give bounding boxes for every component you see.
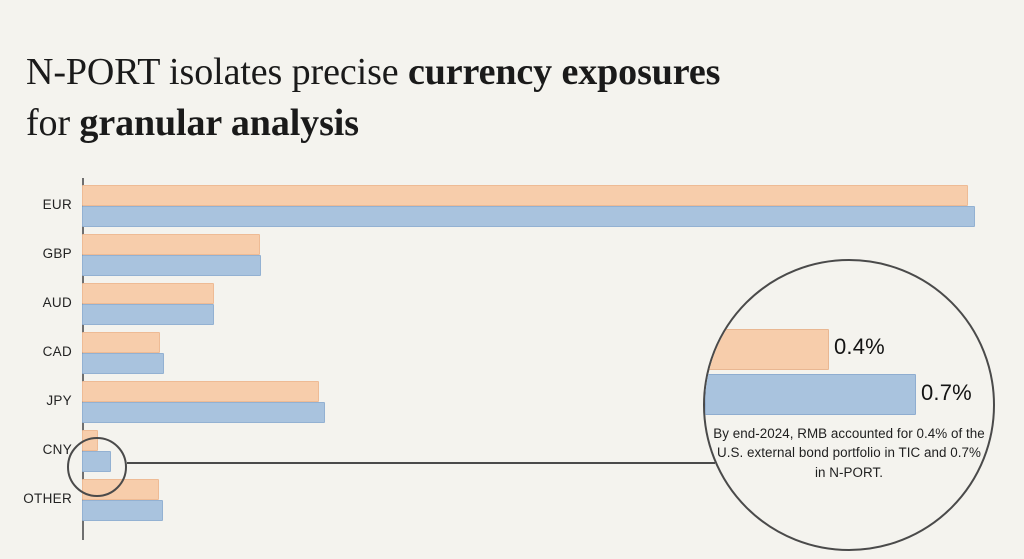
bar-gbp-tic xyxy=(82,234,260,255)
chart-canvas: N-PORT isolates precise currency exposur… xyxy=(0,0,1024,559)
bar-other-n-port xyxy=(82,500,163,521)
bar-eur-n-port xyxy=(82,206,975,227)
category-label-jpy: JPY xyxy=(0,393,72,408)
bar-aud-n-port xyxy=(82,304,214,325)
callout-bar-tic xyxy=(707,329,829,370)
bar-eur-tic xyxy=(82,185,968,206)
callout-value-nport: 0.7% xyxy=(921,380,972,406)
callout-connector-line xyxy=(127,462,715,464)
bar-cad-tic xyxy=(82,332,160,353)
category-label-cad: CAD xyxy=(0,344,72,359)
bar-jpy-n-port xyxy=(82,402,325,423)
category-label-other: OTHER xyxy=(0,491,72,506)
bar-gbp-n-port xyxy=(82,255,261,276)
category-label-eur: EUR xyxy=(0,197,72,212)
bar-cad-n-port xyxy=(82,353,164,374)
category-label-aud: AUD xyxy=(0,295,72,310)
bar-jpy-tic xyxy=(82,381,319,402)
callout-value-tic: 0.4% xyxy=(834,334,885,360)
callout-bar-nport xyxy=(705,374,916,415)
bar-aud-tic xyxy=(82,283,214,304)
callout-caption: By end-2024, RMB accounted for 0.4% of t… xyxy=(713,424,985,482)
callout-source-circle xyxy=(67,437,127,497)
category-label-cny: CNY xyxy=(0,442,72,457)
category-label-gbp: GBP xyxy=(0,246,72,261)
